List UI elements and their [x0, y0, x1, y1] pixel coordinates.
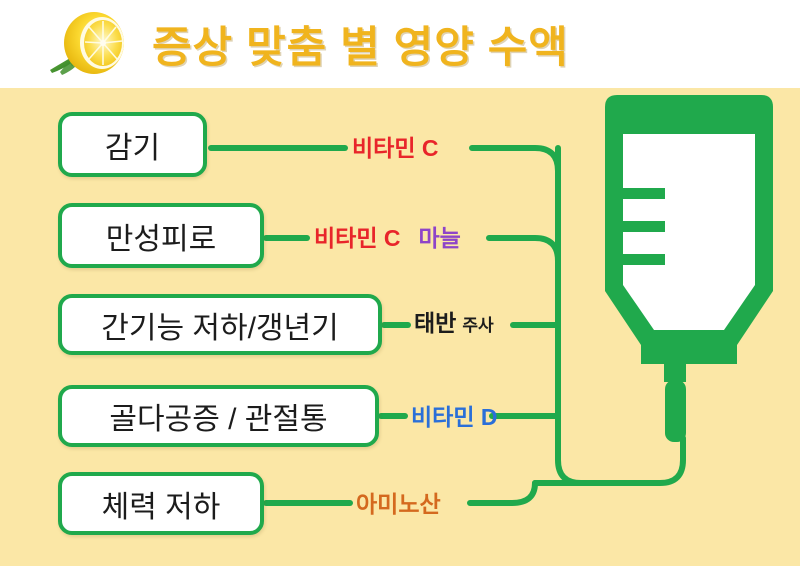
symptom-box-4[interactable]: 골다공증 / 관절통	[58, 385, 379, 447]
drip-chamber-icon	[665, 380, 686, 442]
nutrient-label-1: 비타민 C	[352, 134, 438, 162]
symptom-label-3: 간기능 저하/갱년기	[101, 303, 338, 347]
iv-bag-neck	[664, 364, 686, 382]
nutrient-label-3: 태반 주사	[414, 312, 494, 340]
symptom-box-1[interactable]: 감기	[58, 112, 207, 177]
graduation-mark-3	[623, 254, 665, 265]
nutrient-4-item-1: 비타민 D	[411, 406, 497, 429]
symptom-box-5[interactable]: 체력 저하	[58, 472, 264, 535]
nutrient-label-5: 아미노산	[356, 490, 441, 518]
nutrient-label-2: 비타민 C 마늘	[314, 224, 461, 252]
graduation-mark-1	[623, 188, 665, 199]
nutrient-3-item-1: 태반	[414, 312, 456, 335]
symptom-label-4: 골다공증 / 관절통	[109, 394, 327, 438]
symptom-box-3[interactable]: 간기능 저하/갱년기	[58, 294, 382, 355]
infographic-poster: 증상 맞춤 별 영양 수액	[0, 0, 800, 566]
nutrient-5-item-1: 아미노산	[356, 493, 441, 516]
nutrient-2-item-1: 비타민 C	[314, 227, 400, 250]
nutrient-3-item-2: 주사	[462, 317, 493, 334]
symptom-label-5: 체력 저하	[102, 482, 221, 526]
graduation-mark-2	[623, 221, 665, 232]
nutrient-label-4: 비타민 D	[411, 403, 497, 431]
symptom-label-1: 감기	[105, 123, 160, 167]
nutrient-2-item-2: 마늘	[418, 227, 460, 250]
nutrient-1-item-1: 비타민 C	[352, 137, 438, 160]
symptom-box-2[interactable]: 만성피로	[58, 203, 264, 268]
symptom-label-2: 만성피로	[106, 214, 216, 258]
